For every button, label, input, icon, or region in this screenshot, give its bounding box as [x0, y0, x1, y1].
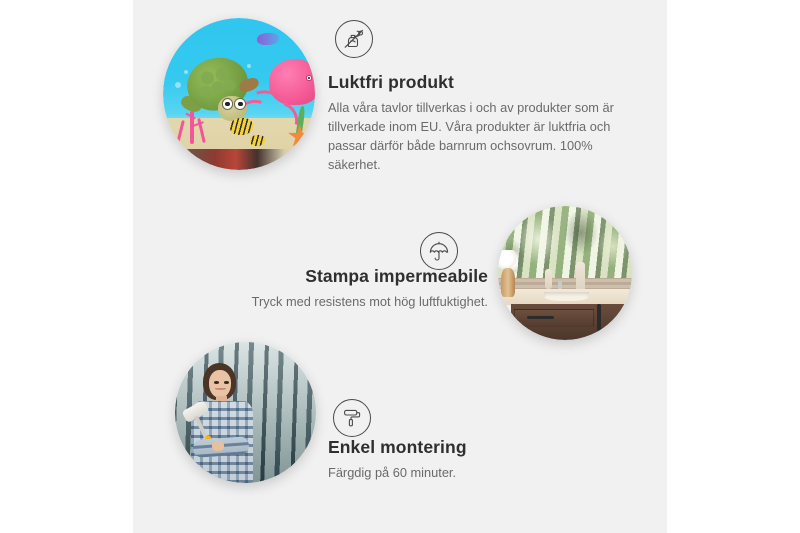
feature-text-odourless: Luktfri produkt Alla våra tavlor tillver…: [328, 72, 628, 175]
feature-title-odourless: Luktfri produkt: [328, 72, 628, 94]
no-perfume-icon: [335, 20, 373, 58]
seafloor-strip: [163, 149, 315, 170]
woman-with-roller-photo: [175, 342, 316, 483]
feature-text-easy-mounting: Enkel montering Färgdig på 60 minuter.: [328, 437, 628, 483]
octopus-eye: [306, 75, 312, 81]
feature-title-easy-mounting: Enkel montering: [328, 437, 628, 459]
bathroom-photo: [498, 206, 632, 340]
woman-eye: [224, 381, 230, 384]
drawer-handle: [527, 316, 554, 319]
soap-dispenser: [576, 262, 585, 291]
turtle-eye: [222, 98, 234, 110]
blue-fish-icon: [257, 33, 278, 45]
woman-hand: [212, 441, 225, 451]
woman-eye: [214, 381, 220, 384]
umbrella-icon: [420, 232, 458, 270]
sink-basin: [544, 292, 590, 301]
paint-roller-icon: [333, 399, 371, 437]
underwater-scene-illustration: [163, 18, 315, 170]
yellow-fish-icon: [230, 118, 253, 135]
feature-text-waterproof: Stampa impermeabile Tryck med resistens …: [188, 266, 488, 312]
turtle-eye: [234, 98, 246, 110]
vanity-drawer: [514, 309, 594, 327]
feature-showcase-page: Luktfri produkt Alla våra tavlor tillver…: [0, 0, 800, 533]
feature-description-easy-mounting: Färgdig på 60 minuter.: [328, 464, 628, 483]
coral: [172, 109, 218, 150]
feature-title-waterproof: Stampa impermeabile: [188, 266, 488, 288]
soap-bottle: [545, 269, 552, 289]
cabinet-handle: [597, 304, 600, 331]
feature-image-odourless: [163, 18, 315, 170]
content-panel: Luktfri produkt Alla våra tavlor tillver…: [133, 0, 667, 533]
feature-description-odourless: Alla våra tavlor tillverkas i och av pro…: [328, 99, 628, 175]
feature-image-waterproof: [498, 206, 632, 340]
yellow-fish-icon: [250, 135, 265, 146]
bubble-icon: [184, 70, 188, 74]
gold-vase: [501, 268, 516, 297]
feature-description-waterproof: Tryck med resistens mot hög luftfuktighe…: [188, 293, 488, 312]
feature-image-easy-mounting: [175, 342, 316, 483]
